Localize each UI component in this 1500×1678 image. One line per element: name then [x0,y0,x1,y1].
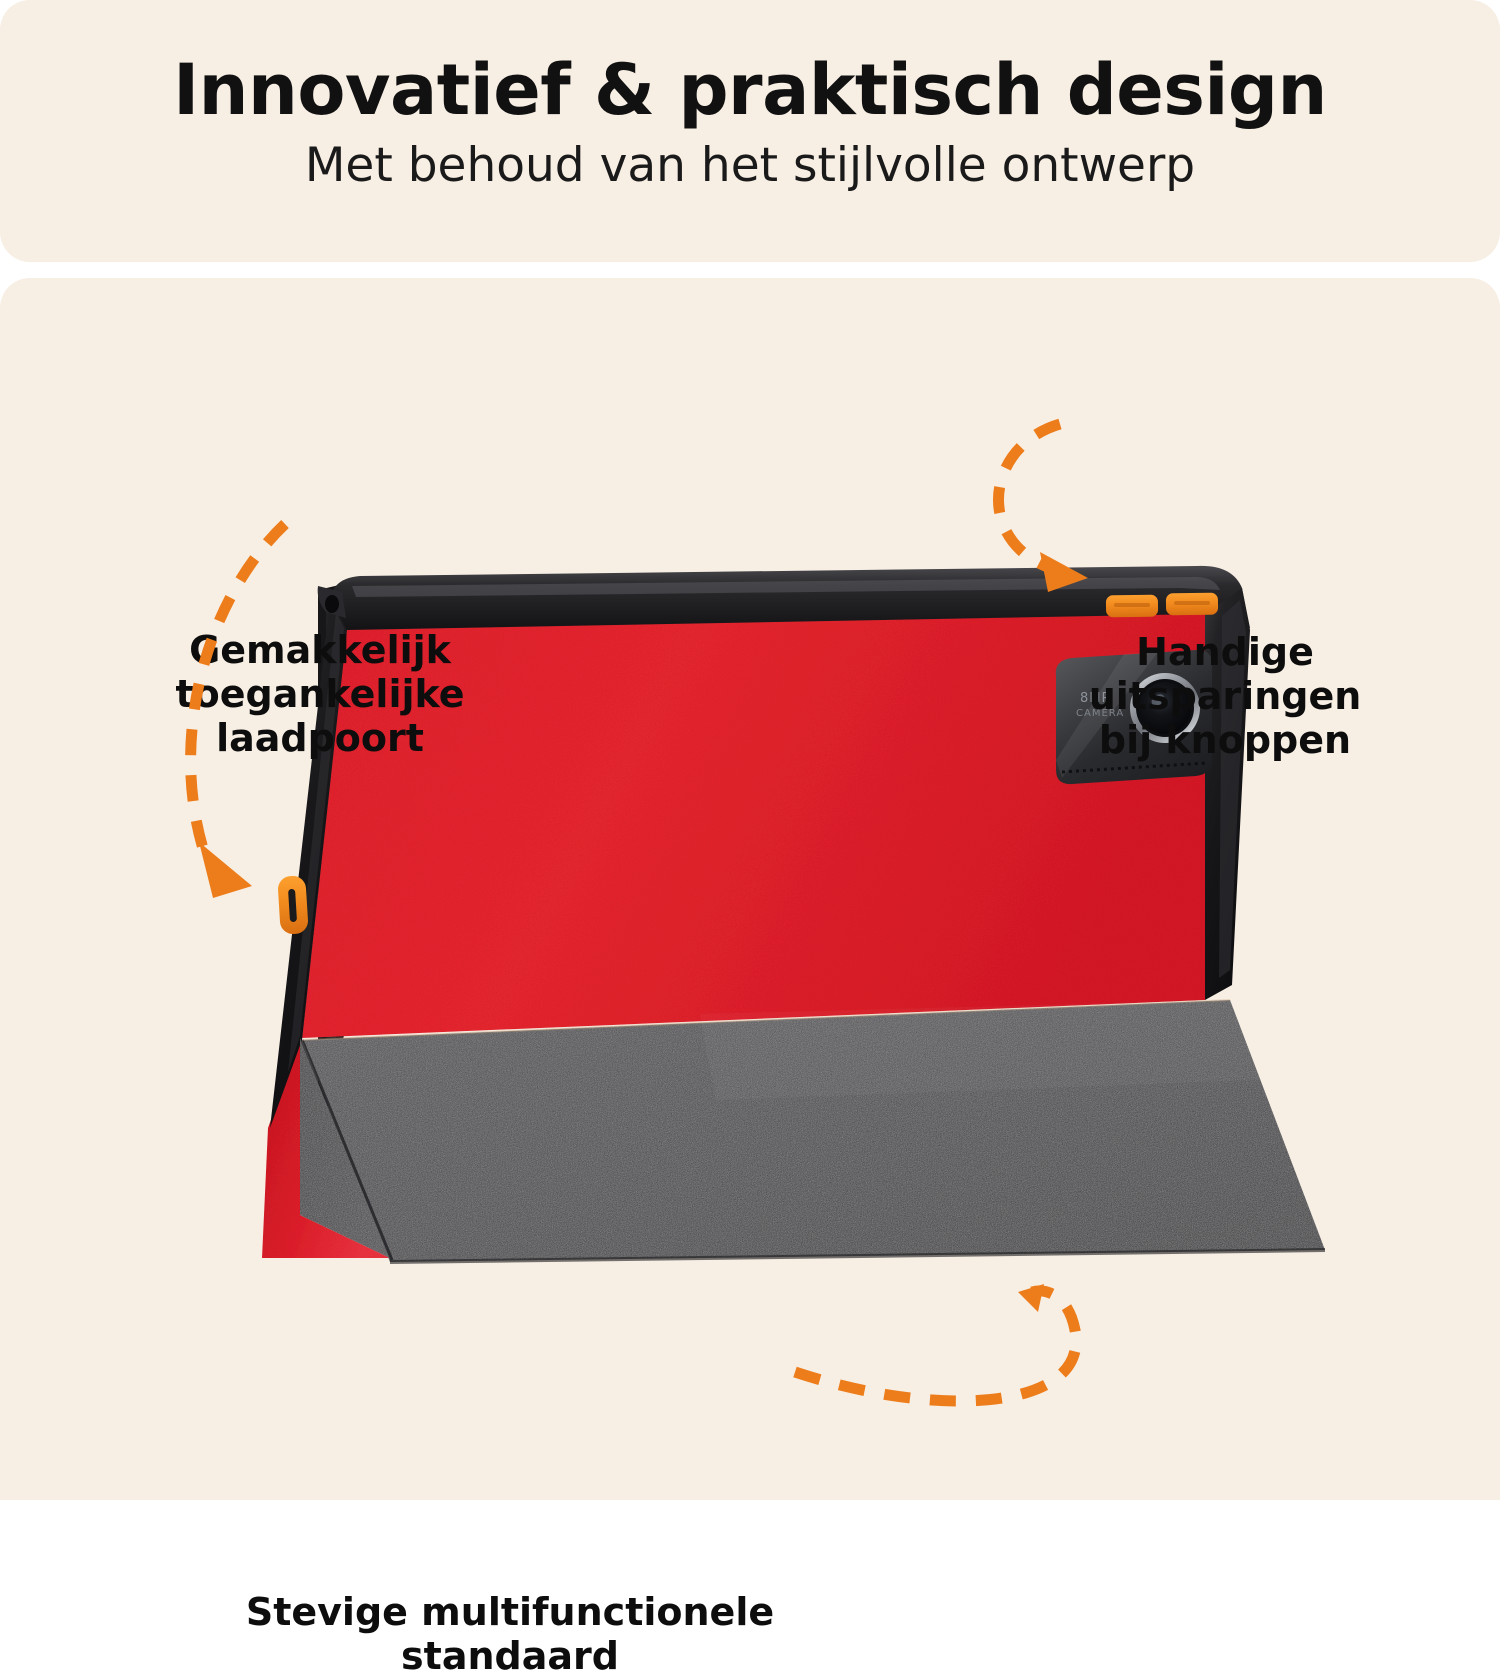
button-cutout-2-groove [1174,601,1210,605]
infographic-page: Innovatief & praktisch design Met behoud… [0,0,1500,1500]
callout-label-stand: Stevige multifunctionele standaard [200,1590,820,1678]
button-cutout-1-groove [1114,603,1150,607]
case-frame-corner-hole [325,595,339,613]
callout-label-button-cutouts: Handige uitsparingen bij knoppen [1060,630,1390,762]
callout-label-charging-port: Gemakkelijk toegankelijke laadpoort [110,628,530,760]
product-showcase-card: 8MP CAMERA Gemakkelijk toegankelijke laa… [0,278,1500,1500]
charging-port-cutout-group [277,875,308,935]
